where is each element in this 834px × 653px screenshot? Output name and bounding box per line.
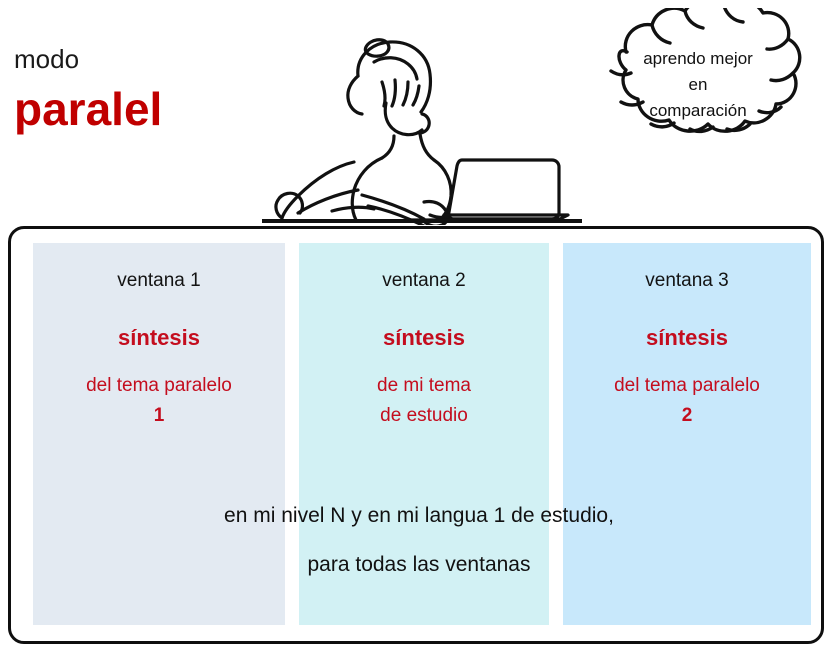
page-title: modo paralel xyxy=(14,44,264,136)
window-2-desc-line-1: de mi tema xyxy=(377,375,471,396)
window-1-desc-line-2: 1 xyxy=(154,405,165,426)
thought-cloud-icon: aprendo mejor en comparación xyxy=(566,8,828,180)
window-column-3[interactable]: ventana 3 síntesis del tema paralelo 2 xyxy=(563,243,811,625)
window-1-description: del tema paralelo 1 xyxy=(33,371,285,431)
window-1-desc-line-1: del tema paralelo xyxy=(86,375,232,396)
window-3-description: del tema paralelo 2 xyxy=(563,371,811,431)
title-line-paralel: paralel xyxy=(14,82,264,136)
person-studying-at-laptop-icon xyxy=(262,10,582,225)
window-2-description: de mi tema de estudio xyxy=(299,371,549,431)
thought-line-1: aprendo mejor xyxy=(643,49,753,68)
window-2-desc-line-2: de estudio xyxy=(380,405,468,426)
window-column-2[interactable]: ventana 2 síntesis de mi tema de estudio xyxy=(299,243,549,625)
window-3-header: ventana 3 xyxy=(563,269,811,293)
title-line-modo: modo xyxy=(14,44,264,74)
window-1-header: ventana 1 xyxy=(33,269,285,293)
thought-bubble-text: aprendo mejor en comparación xyxy=(588,46,808,124)
window-3-desc-line-1: del tema paralelo xyxy=(614,375,760,396)
window-1-sintesis: síntesis xyxy=(33,325,285,351)
window-2-sintesis: síntesis xyxy=(299,325,549,351)
window-column-1[interactable]: ventana 1 síntesis del tema paralelo 1 xyxy=(33,243,285,625)
window-2-header: ventana 2 xyxy=(299,269,549,293)
window-3-sintesis: síntesis xyxy=(563,325,811,351)
window-3-desc-line-2: 2 xyxy=(682,405,693,426)
thought-line-2: en xyxy=(689,75,708,94)
slide-canvas: modo paralel xyxy=(0,0,834,653)
windows-columns: ventana 1 síntesis del tema paralelo 1 v… xyxy=(11,229,821,641)
windows-panel: ventana 1 síntesis del tema paralelo 1 v… xyxy=(8,226,824,644)
thought-line-3: comparación xyxy=(649,101,746,120)
